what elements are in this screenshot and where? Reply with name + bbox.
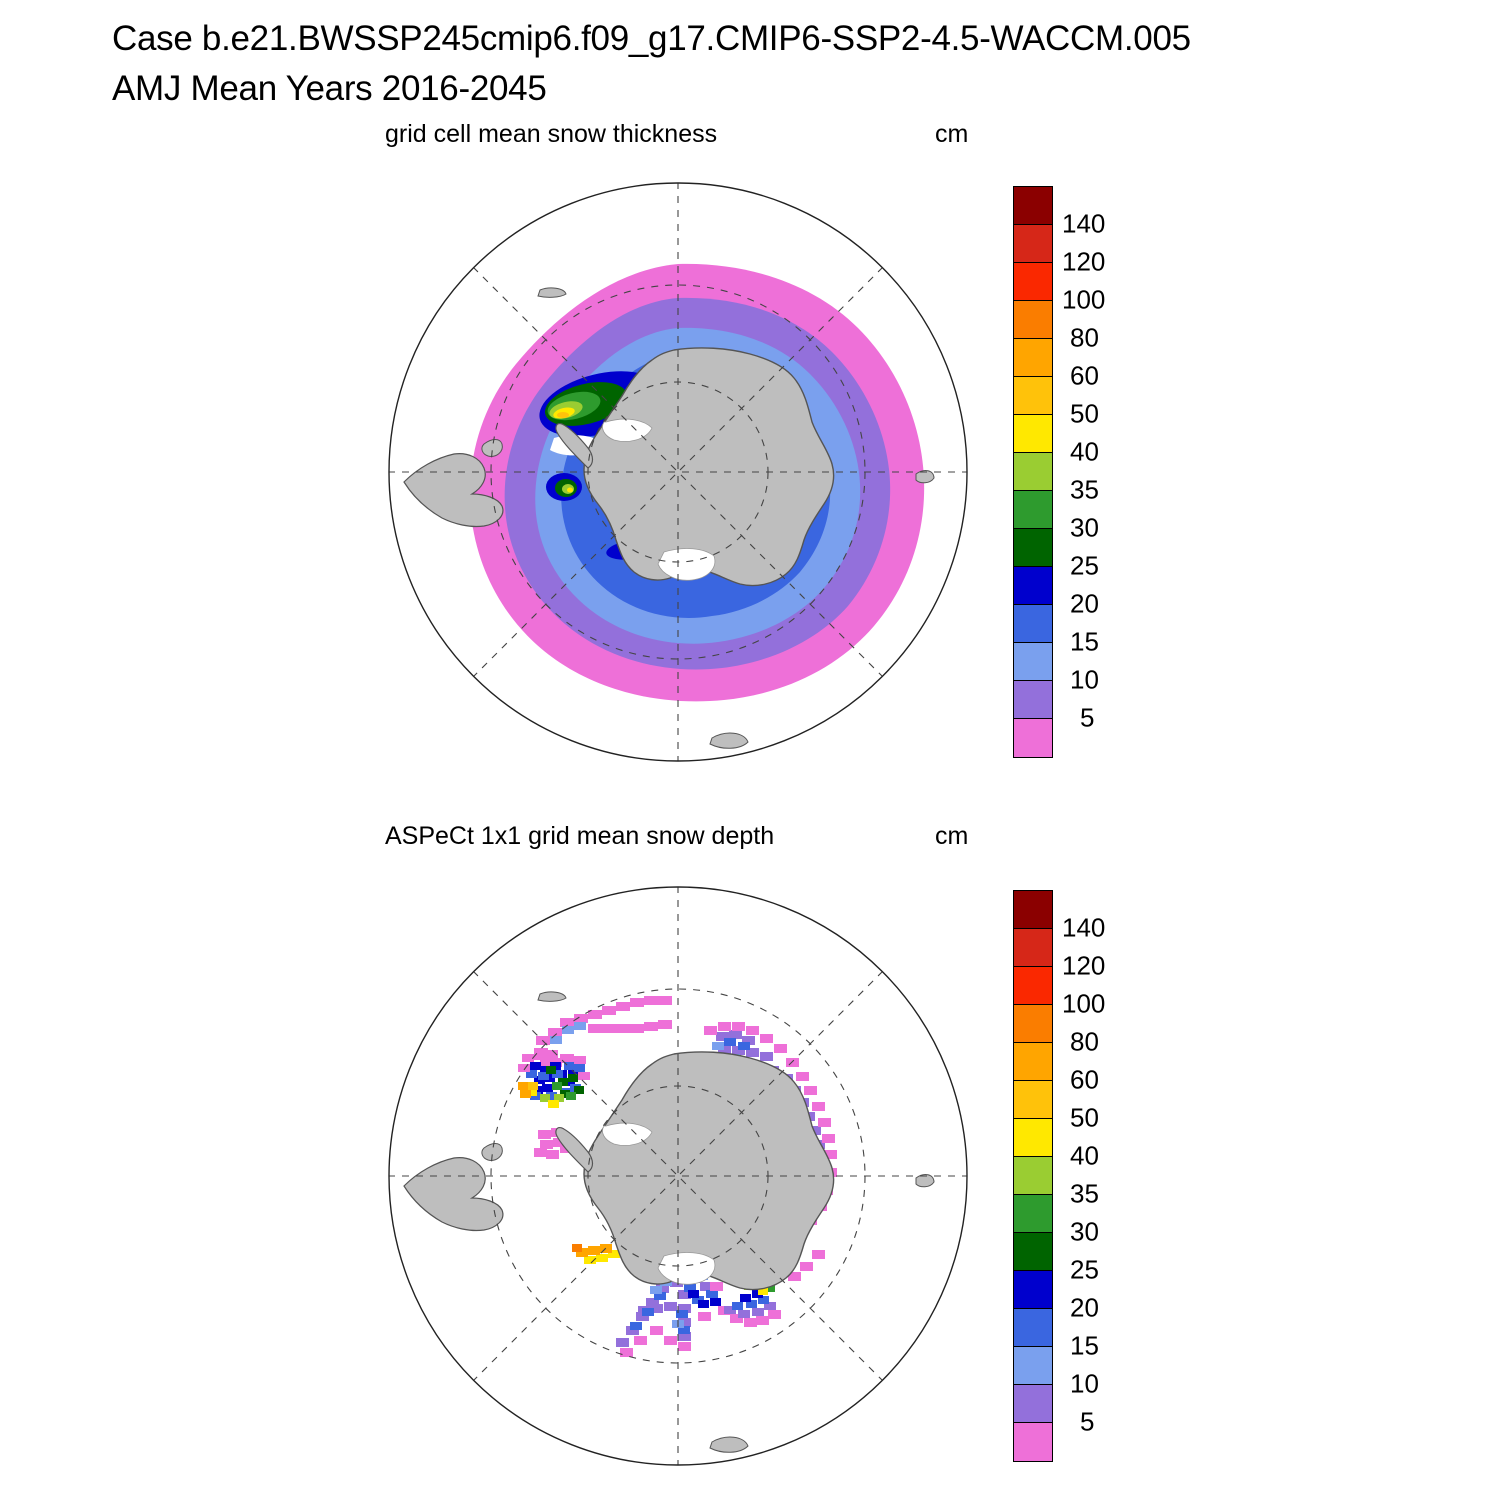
colorbar-band-light-blue[interactable]	[1014, 643, 1052, 681]
colorbar-band-amber[interactable]	[1014, 339, 1052, 377]
colorbar-band-dark-red[interactable]	[1014, 187, 1052, 225]
colorbar-tick-120: 120	[1062, 247, 1105, 278]
colorbar-band-yellow-green[interactable]	[1014, 1157, 1052, 1195]
colorbar-tick-30: 30	[1070, 1217, 1099, 1248]
colorbar-tick-60: 60	[1070, 1065, 1099, 1096]
panel-title-aspect: ASPeCt 1x1 grid mean snow depth	[385, 822, 774, 851]
colorbar-tick-20: 20	[1070, 589, 1099, 620]
colorbar-tick-20: 20	[1070, 1293, 1099, 1324]
island-north	[538, 288, 566, 297]
colorbar-band-dark-green[interactable]	[1014, 1233, 1052, 1271]
colorbar-band-orange[interactable]	[1014, 301, 1052, 339]
colorbar-band-orange[interactable]	[1014, 1005, 1052, 1043]
colorbar-band-amber[interactable]	[1014, 1043, 1052, 1081]
colorbar-tick-50: 50	[1070, 399, 1099, 430]
colorbar-band-green[interactable]	[1014, 1195, 1052, 1233]
colorbar-band-gold[interactable]	[1014, 377, 1052, 415]
colorbar-tick-10: 10	[1070, 665, 1099, 696]
colorbar-labels-model: 140120100806050403530252015105	[1062, 186, 1152, 756]
colorbar-tick-25: 25	[1070, 551, 1099, 582]
map-svg-model	[388, 182, 968, 762]
data-layer-model	[388, 182, 968, 762]
colorbar-band-royal-blue[interactable]	[1014, 1309, 1052, 1347]
period-title-line: AMJ Mean Years 2016-2045	[112, 64, 1452, 114]
bellings-band-40-50	[567, 488, 573, 493]
colorbar-band-blue[interactable]	[1014, 1271, 1052, 1309]
colorbar-band-purple[interactable]	[1014, 681, 1052, 719]
colorbar-band-dark-red[interactable]	[1014, 891, 1052, 929]
colorbar-band-yellow[interactable]	[1014, 1119, 1052, 1157]
figure-title: Case b.e21.BWSSP245cmip6.f09_g17.CMIP6-S…	[112, 14, 1452, 114]
colorbar-band-red-orange[interactable]	[1014, 967, 1052, 1005]
colorbar-tick-15: 15	[1070, 627, 1099, 658]
colorbar-tick-35: 35	[1070, 1179, 1099, 1210]
island-north	[538, 992, 566, 1001]
map-aspect	[388, 886, 968, 1466]
colorbar-tick-140: 140	[1062, 209, 1105, 240]
colorbar-tick-5: 5	[1080, 703, 1094, 734]
colorbar-tick-40: 40	[1070, 437, 1099, 468]
colorbar-band-green[interactable]	[1014, 491, 1052, 529]
colorbar-tick-80: 80	[1070, 323, 1099, 354]
colorbar-units-model: cm	[935, 120, 968, 149]
colorbar-band-red-orange[interactable]	[1014, 263, 1052, 301]
colorbar-tick-10: 10	[1070, 1369, 1099, 1400]
panel-title-model: grid cell mean snow thickness	[385, 120, 717, 149]
colorbar-labels-aspect: 140120100806050403530252015105	[1062, 890, 1152, 1460]
colorbar-model[interactable]	[1013, 186, 1053, 758]
colorbar-band-light-blue[interactable]	[1014, 1347, 1052, 1385]
colorbar-tick-100: 100	[1062, 285, 1105, 316]
colorbar-band-firebrick[interactable]	[1014, 225, 1052, 263]
colorbar-tick-25: 25	[1070, 1255, 1099, 1286]
colorbar-band-orchid[interactable]	[1014, 1423, 1052, 1461]
colorbar-tick-60: 60	[1070, 361, 1099, 392]
case-title-line: Case b.e21.BWSSP245cmip6.f09_g17.CMIP6-S…	[112, 14, 1452, 64]
colorbar-band-blue[interactable]	[1014, 567, 1052, 605]
colorbar-band-orchid[interactable]	[1014, 719, 1052, 757]
colorbar-tick-120: 120	[1062, 951, 1105, 982]
colorbar-band-firebrick[interactable]	[1014, 929, 1052, 967]
weddell-band-50-60	[557, 412, 569, 418]
colorbar-aspect[interactable]	[1013, 890, 1053, 1462]
colorbar-band-yellow[interactable]	[1014, 415, 1052, 453]
colorbar-band-gold[interactable]	[1014, 1081, 1052, 1119]
colorbar-band-dark-green[interactable]	[1014, 529, 1052, 567]
colorbar-units-aspect: cm	[935, 822, 968, 851]
colorbar-band-royal-blue[interactable]	[1014, 605, 1052, 643]
map-svg-aspect	[388, 886, 968, 1466]
colorbar-tick-30: 30	[1070, 513, 1099, 544]
colorbar-tick-80: 80	[1070, 1027, 1099, 1058]
colorbar-tick-40: 40	[1070, 1141, 1099, 1172]
colorbar-tick-50: 50	[1070, 1103, 1099, 1134]
colorbar-tick-35: 35	[1070, 475, 1099, 506]
colorbar-band-purple[interactable]	[1014, 1385, 1052, 1423]
data-layer-aspect	[388, 886, 968, 1466]
colorbar-band-yellow-green[interactable]	[1014, 453, 1052, 491]
colorbar-tick-100: 100	[1062, 989, 1105, 1020]
colorbar-tick-5: 5	[1080, 1407, 1094, 1438]
map-model	[388, 182, 968, 762]
colorbar-tick-140: 140	[1062, 913, 1105, 944]
colorbar-tick-15: 15	[1070, 1331, 1099, 1362]
